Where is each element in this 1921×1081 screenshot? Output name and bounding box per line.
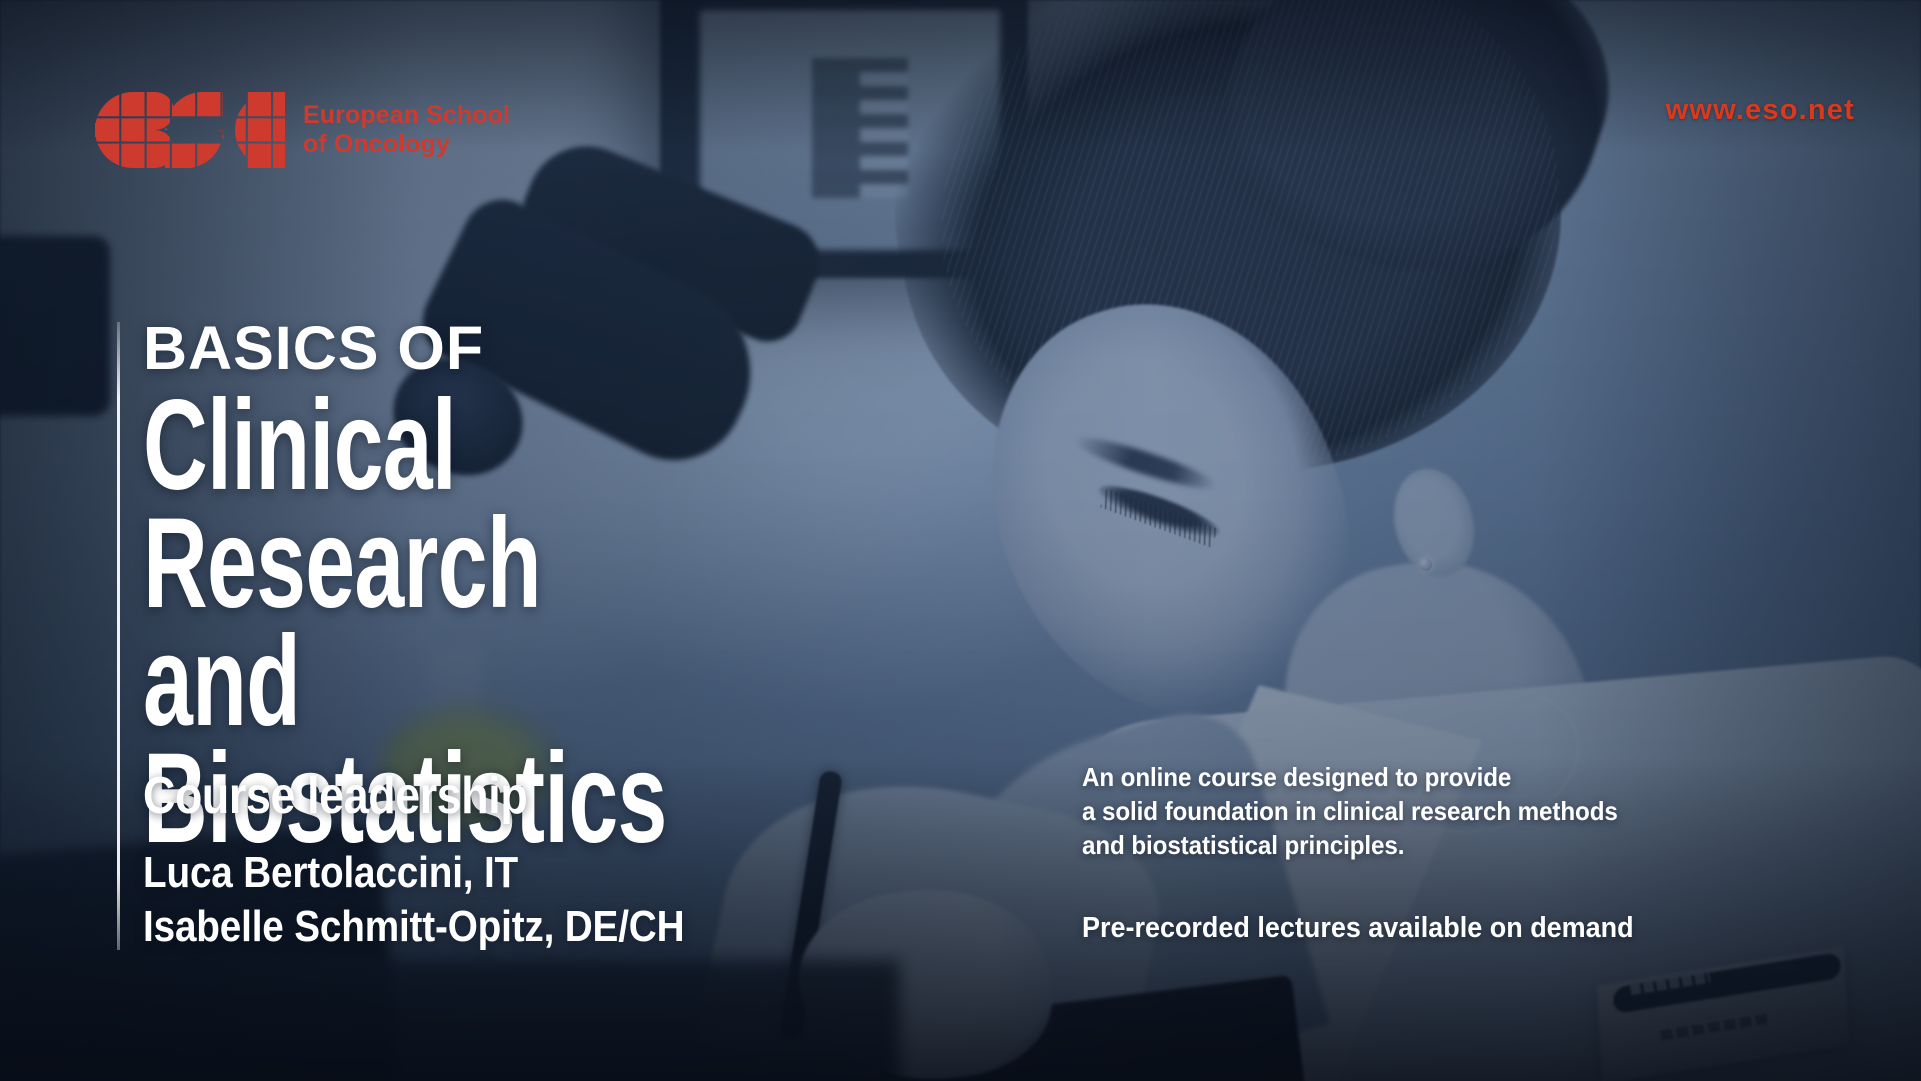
course-leadership-block: Course leadership Luca Bertolaccini, IT … xyxy=(143,766,1043,953)
website-url[interactable]: www.eso.net xyxy=(1666,94,1855,127)
title-kicker: BASICS OF xyxy=(143,318,1143,379)
eso-logo-lockup[interactable]: European School of Oncology xyxy=(95,92,510,168)
poster-content: European School of Oncology www.eso.net … xyxy=(0,0,1921,1081)
poster: European School of Oncology www.eso.net … xyxy=(0,0,1921,1081)
course-description-body: An online course designed to provide a s… xyxy=(1082,760,1826,862)
accent-rule xyxy=(117,322,120,950)
eso-logo-icon xyxy=(95,92,285,168)
course-leadership-names: Luca Bertolaccini, IT Isabelle Schmitt-O… xyxy=(143,846,935,953)
eso-logo-wordmark: European School of Oncology xyxy=(303,101,510,160)
course-description-block: An online course designed to provide a s… xyxy=(1082,760,1882,948)
course-leadership-heading: Course leadership xyxy=(143,766,917,826)
course-availability-note: Pre-recorded lectures available on deman… xyxy=(1082,910,1826,948)
